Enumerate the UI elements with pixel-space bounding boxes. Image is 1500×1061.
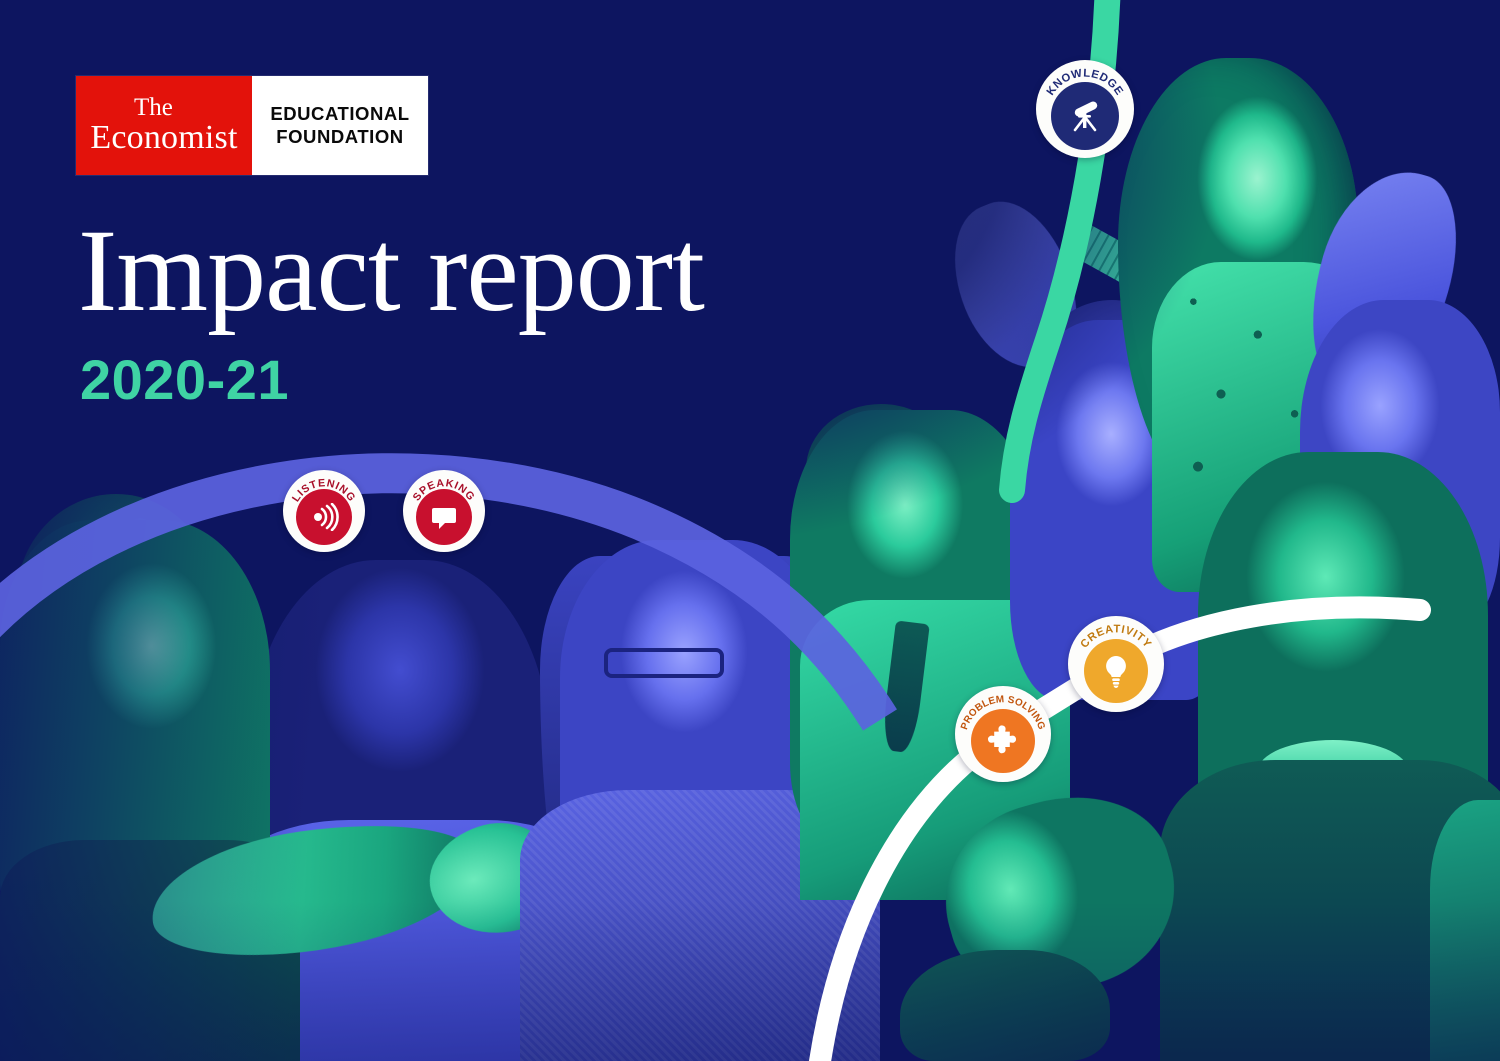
badge-problem-solving-label: PROBLEM SOLVING [959,694,1047,731]
badge-speaking-label: SPEAKING [411,477,478,503]
badge-listening-label-arc: LISTENING [283,470,365,552]
badge-creativity-label: CREATIVITY [1078,623,1153,650]
badge-creativity-label-arc: CREATIVITY [1068,616,1164,712]
logo-foundation-block: EDUCATIONAL FOUNDATION [252,76,428,175]
logo-foundation: FOUNDATION [276,127,403,147]
brand-logo[interactable]: The Economist EDUCATIONAL FOUNDATION [76,76,428,175]
badge-speaking-label-arc: SPEAKING [403,470,485,552]
badge-problem-solving[interactable]: PROBLEM SOLVING [955,686,1051,782]
badge-knowledge-label-arc: KNOWLEDGE [1036,60,1134,158]
page-title: Impact report [78,212,704,330]
report-cover: LISTENING SPEAKING [0,0,1500,1061]
badge-knowledge-label: KNOWLEDGE [1045,67,1126,97]
badge-problem-solving-label-arc: PROBLEM SOLVING [955,686,1051,782]
logo-educational: EDUCATIONAL [270,104,409,124]
page-subtitle: 2020-21 [80,352,289,408]
logo-economist: Economist [90,120,237,156]
logo-economist-block: The Economist [76,76,252,175]
badge-listening-label: LISTENING [290,477,358,504]
logo-the: The [134,95,173,120]
badge-knowledge[interactable]: KNOWLEDGE [1036,60,1134,158]
badge-listening[interactable]: LISTENING [283,470,365,552]
badge-creativity[interactable]: CREATIVITY [1068,616,1164,712]
badge-speaking[interactable]: SPEAKING [403,470,485,552]
